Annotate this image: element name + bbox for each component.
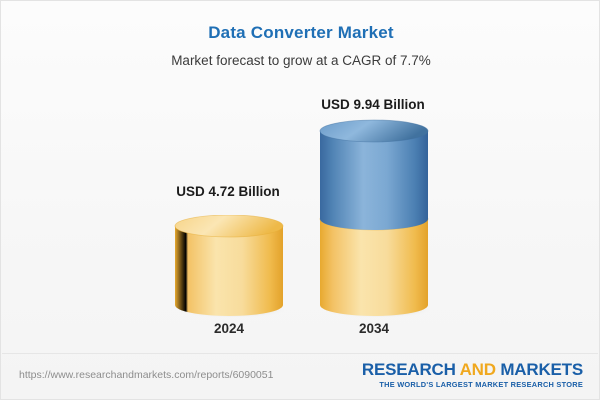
chart-page: Data Converter Market Market forecast to…: [0, 0, 600, 400]
logo-tagline: THE WORLD'S LARGEST MARKET RESEARCH STOR…: [362, 380, 583, 389]
plot-area: USD 4.72 Billion: [1, 1, 600, 349]
logo-and-text: AND: [460, 360, 496, 379]
footer-divider: [2, 353, 598, 354]
value-label-2034: USD 9.94 Billion: [273, 97, 473, 112]
value-label-2024: USD 4.72 Billion: [128, 184, 328, 199]
bar-cylinder-2034: [319, 119, 429, 317]
report-url-link[interactable]: https://www.researchandmarkets.com/repor…: [19, 369, 273, 381]
logo-markets-text: MARKETS: [496, 360, 583, 379]
category-label-2034: 2034: [274, 321, 474, 336]
logo-research-text: RESEARCH: [362, 360, 460, 379]
bar-cylinder-2024: [174, 215, 284, 317]
research-and-markets-logo[interactable]: RESEARCH AND MARKETS THE WORLD'S LARGEST…: [362, 361, 583, 389]
logo-wordmark: RESEARCH AND MARKETS: [362, 361, 583, 379]
